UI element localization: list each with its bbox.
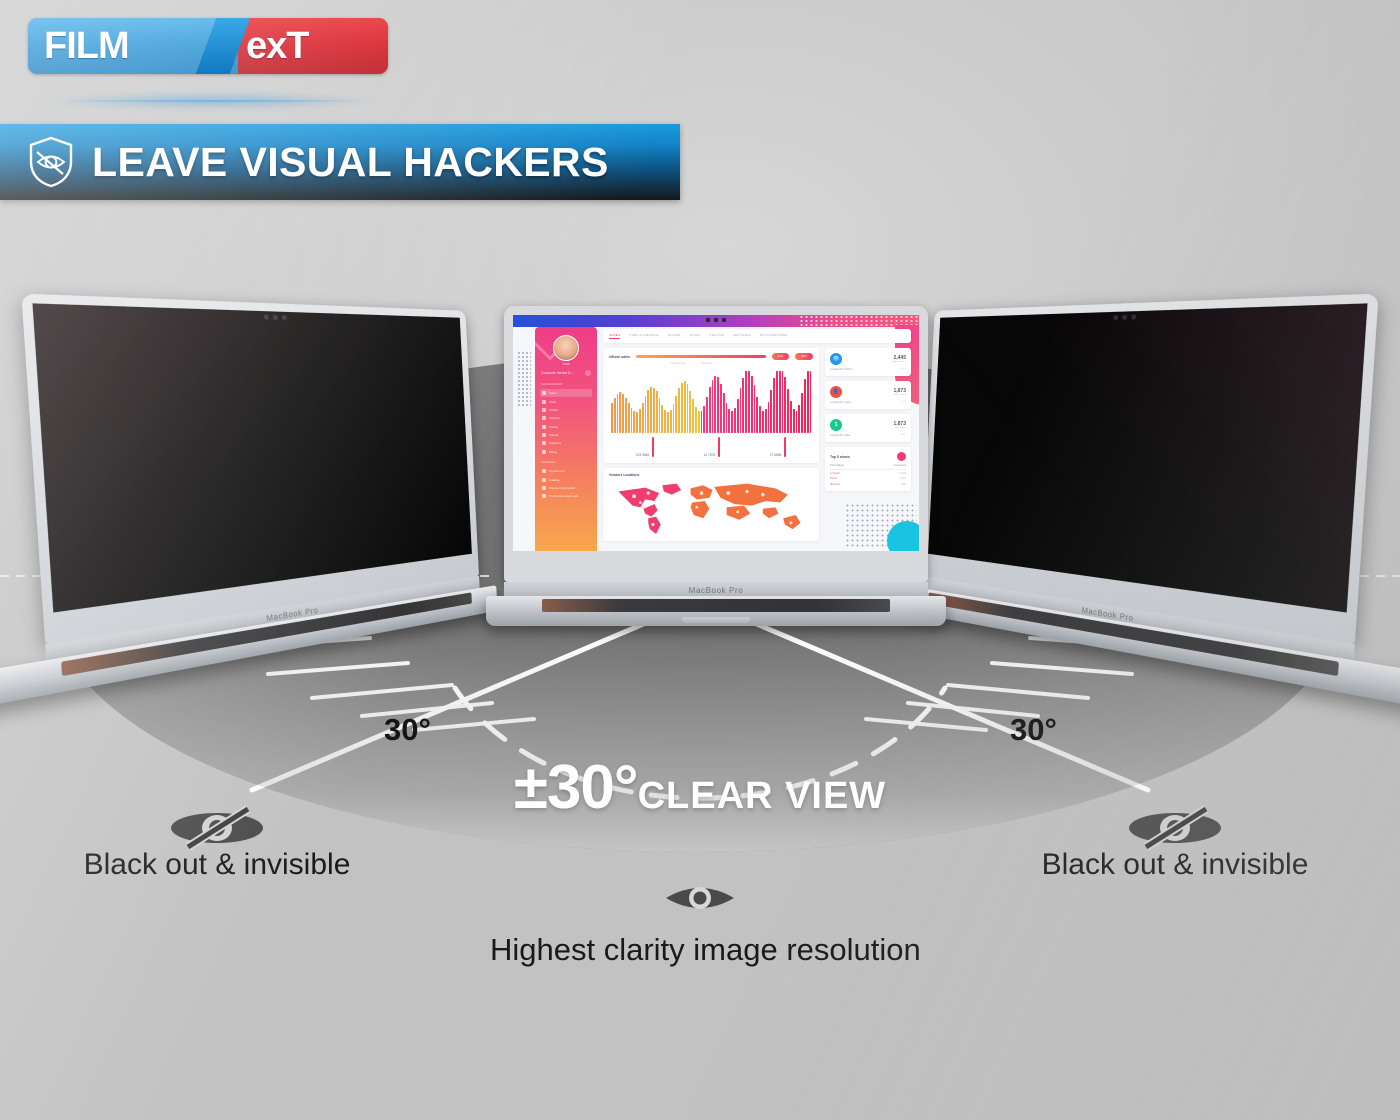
sparkline-bar bbox=[768, 402, 770, 433]
sparkline-bar bbox=[664, 410, 666, 433]
caption-center: Highest clarity image resolution bbox=[490, 878, 910, 968]
world-map bbox=[609, 480, 813, 536]
sidebar-item-payment-approvals[interactable]: Payment Approvals bbox=[540, 484, 592, 492]
sidebar-item-label: Clients bbox=[549, 433, 558, 437]
avatar-name: Smith bbox=[540, 363, 592, 366]
percent-icon bbox=[542, 494, 546, 498]
metric-revenue: 223.9848 bbox=[636, 437, 654, 457]
hero-clear-view: CLEAR VIEW bbox=[638, 775, 887, 817]
stat-delta: -0.5% bbox=[900, 434, 906, 437]
user-icon: 👤 bbox=[830, 386, 842, 398]
sparkline-bar bbox=[723, 393, 725, 433]
sparkline-bar bbox=[793, 409, 795, 433]
store-customers: 984 bbox=[902, 483, 906, 486]
sparkline-bar bbox=[670, 410, 672, 433]
stat-unit: New Clients bbox=[893, 394, 906, 396]
sparkline-bar bbox=[810, 371, 812, 433]
top-stores-title: Top 5 stores bbox=[830, 455, 850, 459]
tab-public-profile[interactable]: PUBLIC PROFILE bbox=[629, 333, 658, 339]
sparkline-bar bbox=[701, 411, 703, 433]
sparkline-bar bbox=[759, 406, 761, 433]
sidebar-item-store[interactable]: Store bbox=[540, 397, 592, 405]
account-switcher[interactable]: Consumer Service D... bbox=[541, 370, 591, 376]
sparkline-bar bbox=[661, 405, 663, 433]
sparkline-bar bbox=[742, 378, 744, 433]
tab-sales[interactable]: SALES bbox=[609, 333, 620, 339]
laptop-center-model: MacBook Pro bbox=[689, 586, 744, 595]
sparkline-bar bbox=[681, 383, 683, 433]
sparkline-bar bbox=[642, 403, 644, 433]
sparkline-bar bbox=[748, 371, 750, 433]
users-icon bbox=[542, 433, 546, 437]
stat-delta: +1.1% bbox=[900, 401, 906, 404]
sparkline-bar bbox=[675, 396, 677, 433]
caption-center-text: Highest clarity image resolution bbox=[490, 932, 910, 968]
sparkline-bar bbox=[656, 391, 658, 433]
store-name: Locatelli bbox=[830, 472, 840, 475]
sidebar-item-label: Pricing bbox=[549, 425, 558, 429]
caption-right: Black out & invisible bbox=[1000, 808, 1350, 882]
sparkline-bar bbox=[639, 409, 641, 433]
sparkline-bar bbox=[712, 380, 714, 434]
sidebar-item-label: Store bbox=[549, 400, 556, 404]
nav-section-label: MANAGEMENT bbox=[541, 382, 591, 386]
laptop-center-trackpad bbox=[682, 617, 750, 623]
sparkline-bar bbox=[745, 371, 747, 433]
dot-pattern-left bbox=[517, 351, 531, 407]
graph-icon bbox=[542, 441, 546, 445]
stat-label: Last Month's Visitors bbox=[830, 368, 852, 371]
sparkline-bar bbox=[678, 388, 680, 433]
sparkline-bar bbox=[796, 411, 798, 433]
sparkline-bar bbox=[737, 399, 739, 433]
caption-right-text: Black out & invisible bbox=[1000, 848, 1350, 882]
sparkline-bar bbox=[751, 376, 753, 433]
sparkline-bar bbox=[807, 371, 809, 433]
dashboard-tabs: SALES PUBLIC PROFILE HOURS STAFF PHOTOS … bbox=[603, 329, 911, 343]
logo-underline bbox=[62, 100, 362, 102]
sparkline-bar bbox=[673, 404, 675, 433]
stat-value: 1,873 bbox=[893, 389, 906, 394]
stat-card-visitors: 👁 2,445 Unique visitors Last Month's Vis… bbox=[825, 348, 911, 376]
month-filter-button[interactable]: AUG bbox=[772, 353, 790, 360]
sparkline-bar bbox=[798, 405, 800, 433]
sparkline-bar bbox=[754, 385, 756, 433]
sparkline-bar bbox=[653, 388, 655, 433]
sparkline-bar bbox=[765, 409, 767, 433]
metric-value: 223.9848 bbox=[636, 453, 649, 457]
caption-left: Black out & invisible bbox=[42, 808, 392, 882]
caption-left-text: Black out & invisible bbox=[42, 848, 392, 882]
laptop-center: Smith Consumer Service D... MANAGEMENT S… bbox=[486, 306, 946, 622]
column-customers: Customers bbox=[893, 464, 906, 467]
sparkline-bar bbox=[619, 392, 621, 433]
table-row: Mossard 984 bbox=[830, 480, 906, 485]
sparkline-bar bbox=[779, 371, 781, 433]
stat-unit: Unique visitors bbox=[892, 361, 906, 363]
sparkline-bar bbox=[689, 391, 691, 433]
sparkline-bar bbox=[617, 394, 619, 433]
top-stores-card: Top 5 stores Store Name Customers Locate… bbox=[825, 447, 911, 491]
eye-icon: 👁 bbox=[830, 353, 842, 365]
stat-unit: Total Orders bbox=[893, 427, 906, 429]
sparkline-bar bbox=[731, 411, 733, 433]
laptop-left-screen bbox=[32, 303, 471, 612]
shield-eye-slash-icon bbox=[28, 136, 74, 188]
sparkline-bar bbox=[709, 387, 711, 433]
sales-progress-bar bbox=[636, 355, 765, 357]
stat-label: Last Month's Leads bbox=[830, 401, 851, 404]
sparkline-bar bbox=[728, 409, 730, 433]
sparkline-bar bbox=[734, 408, 736, 433]
angle-label-right: 30° bbox=[1010, 712, 1057, 748]
sparkline-bar bbox=[650, 387, 652, 433]
logo-right-panel: exT bbox=[238, 18, 388, 74]
store-icon bbox=[542, 400, 546, 404]
stat-card-sales: $ 1,873 Total Orders Last Month's Sales bbox=[825, 414, 911, 442]
banner-title: LEAVE VISUAL HACKERS bbox=[92, 142, 609, 183]
sparkline-bar bbox=[614, 398, 616, 433]
sparkline-bar bbox=[726, 403, 728, 433]
sparkline-bar bbox=[790, 401, 792, 433]
store-name: Ronta bbox=[830, 477, 837, 480]
sparkline-bar bbox=[692, 399, 694, 433]
sparkline-bar bbox=[740, 388, 742, 433]
estore-sales-title: eStore sales bbox=[609, 355, 630, 359]
tag-icon bbox=[542, 425, 546, 429]
sparkline-bar bbox=[628, 403, 630, 433]
store-customers: 1,341 bbox=[900, 472, 907, 475]
metric-bar bbox=[784, 437, 786, 457]
store-customers: 1,107 bbox=[900, 477, 907, 480]
metric-bar bbox=[718, 437, 720, 457]
headline-banner: LEAVE VISUAL HACKERS bbox=[0, 124, 680, 200]
ghost-content bbox=[928, 303, 1367, 612]
sidebar-item-label: Billing bbox=[549, 450, 557, 454]
hero-angle: ±30° bbox=[514, 753, 638, 822]
chart-icon bbox=[542, 391, 546, 395]
legend-cost: Total cost bbox=[701, 362, 711, 365]
sidebar-item-clients[interactable]: Clients bbox=[540, 431, 592, 439]
sidebar-item-analytics[interactable]: Analytics bbox=[540, 439, 592, 447]
sparkline-bar bbox=[773, 378, 775, 433]
cart-icon bbox=[542, 408, 546, 412]
sparkline-bar bbox=[801, 393, 803, 433]
eye-slash-icon bbox=[42, 808, 392, 848]
dashboard-sidebar: Smith Consumer Service D... MANAGEMENT S… bbox=[535, 327, 597, 551]
tab-hours[interactable]: HOURS bbox=[668, 333, 681, 339]
sidebar-item-billing[interactable]: Billing bbox=[540, 448, 592, 456]
angle-label-left: 30° bbox=[384, 712, 431, 748]
metric-value: 27.6858 bbox=[770, 453, 782, 457]
tab-photos[interactable]: PHOTOS bbox=[709, 333, 724, 339]
sidebar-item-label: Sales bbox=[549, 391, 557, 395]
card-icon bbox=[542, 450, 546, 454]
brand-logo: FILM exT bbox=[28, 18, 388, 74]
sparkline-bar bbox=[784, 377, 786, 433]
sales-metrics: 223.9848 12.7878 27.6858 bbox=[603, 433, 819, 463]
metric-cost: 12.7878 bbox=[704, 437, 720, 457]
sparkline-bar bbox=[717, 377, 719, 433]
promo-stage: MacBook Pro MacBook Pro bbox=[0, 0, 1400, 1120]
sparkline-bar bbox=[720, 384, 722, 433]
sparkline-bar bbox=[667, 412, 669, 433]
sidebar-item-orders[interactable]: Orders bbox=[540, 406, 592, 414]
stat-delta: +2.4% bbox=[900, 368, 906, 371]
sidebar-item-label: Vendors bbox=[549, 416, 560, 420]
sparkline-bar bbox=[625, 398, 627, 433]
metric-value: 12.7878 bbox=[704, 453, 716, 457]
laptop-center-lid: Smith Consumer Service D... MANAGEMENT S… bbox=[504, 306, 928, 582]
store-name: Mossard bbox=[830, 483, 840, 486]
sparkline-bar bbox=[647, 390, 649, 433]
sparkline-bar bbox=[770, 390, 772, 433]
sparkline-bar bbox=[622, 394, 624, 433]
sparkline-bar bbox=[776, 371, 778, 433]
sidebar-item-label: My Account bbox=[549, 469, 565, 473]
book-icon bbox=[542, 478, 546, 482]
sidebar-item-label: Analytics bbox=[549, 441, 561, 445]
truck-icon bbox=[542, 416, 546, 420]
sparkline-bar bbox=[714, 376, 716, 433]
tab-notifications[interactable]: NOTIFICATIONS bbox=[760, 333, 788, 339]
sparkline-bar bbox=[706, 397, 708, 433]
column-store-name: Store Name bbox=[830, 464, 844, 467]
metric-profit: 27.6858 bbox=[770, 437, 786, 457]
dollar-icon: $ bbox=[830, 419, 842, 431]
sidebar-item-label: Catalog bbox=[549, 478, 559, 482]
sparkline-bar bbox=[804, 379, 806, 433]
sparkline-bar bbox=[787, 389, 789, 433]
sparkline-bar bbox=[687, 384, 689, 433]
sidebar-item-catalog[interactable]: Catalog bbox=[540, 475, 592, 483]
user-icon bbox=[542, 469, 546, 473]
tab-staff[interactable]: STAFF bbox=[689, 333, 700, 339]
sparkline-bar bbox=[631, 408, 633, 433]
tab-settings[interactable]: SETTINGS bbox=[733, 333, 751, 339]
avatar[interactable] bbox=[553, 335, 579, 361]
laptop-center-screen[interactable]: Smith Consumer Service D... MANAGEMENT S… bbox=[513, 315, 919, 551]
sidebar-item-pricing[interactable]: Pricing bbox=[540, 423, 592, 431]
sidebar-item-my-account[interactable]: My Account bbox=[540, 467, 592, 475]
chevron-icon bbox=[585, 370, 591, 376]
eye-slash-icon bbox=[1000, 808, 1350, 848]
sales-sparkline-chart bbox=[603, 365, 819, 433]
sidebar-item-vendors[interactable]: Vendors bbox=[540, 414, 592, 422]
ghost-content bbox=[32, 303, 471, 612]
sparkline-bar bbox=[782, 371, 784, 433]
sparkline-bar bbox=[756, 397, 758, 433]
logo-film-text: FILM bbox=[44, 27, 129, 65]
estore-sales-card: eStore sales AUG 2017 Total revenue Tota… bbox=[603, 348, 819, 463]
sparkline-bar bbox=[695, 407, 697, 433]
dashboard-app: Smith Consumer Service D... MANAGEMENT S… bbox=[513, 315, 919, 551]
sparkline-bar bbox=[659, 398, 661, 433]
check-icon bbox=[542, 486, 546, 490]
sparkline-bar bbox=[633, 411, 635, 433]
sidebar-item-label: Promotions Approvals bbox=[549, 494, 578, 498]
account-title: Consumer Service D... bbox=[541, 371, 583, 375]
sparkline-bar bbox=[611, 403, 613, 433]
laptop-center-keyboard bbox=[542, 599, 890, 612]
vendors-locations-card: Vendors Locations bbox=[603, 468, 819, 541]
sparkline-bar bbox=[762, 411, 764, 433]
logo-ext-text: exT bbox=[246, 27, 308, 65]
sidebar-item-label: Payment Approvals bbox=[549, 486, 575, 490]
metric-bar bbox=[652, 437, 654, 457]
stat-card-leads: 👤 1,873 New Clients Last Month's Leads bbox=[825, 381, 911, 409]
more-options-icon[interactable] bbox=[897, 452, 906, 461]
sidebar-item-sales[interactable]: Sales bbox=[540, 389, 592, 397]
stat-value: 2,445 bbox=[892, 356, 906, 361]
dashboard-main: SALES PUBLIC PROFILE HOURS STAFF PHOTOS … bbox=[597, 315, 919, 551]
sparkline-bar bbox=[636, 412, 638, 433]
year-filter-button[interactable]: 2017 bbox=[795, 353, 813, 360]
sidebar-item-label: Orders bbox=[549, 408, 558, 412]
sparkline-bar bbox=[684, 381, 686, 433]
stat-value: 1,873 bbox=[893, 422, 906, 427]
stat-cards-column: 👁 2,445 Unique visitors Last Month's Vis… bbox=[825, 348, 911, 541]
legend-revenue: Total revenue bbox=[671, 362, 685, 365]
laptop-right-screen bbox=[928, 303, 1367, 612]
eye-open-icon bbox=[490, 878, 910, 918]
sparkline-bar bbox=[698, 411, 700, 433]
nav-section-label: GENERAL bbox=[541, 460, 591, 464]
sparkline-bar bbox=[645, 396, 647, 433]
stat-label: Last Month's Sales bbox=[830, 434, 850, 437]
sparkline-bar bbox=[703, 406, 705, 433]
vendors-title: Vendors Locations bbox=[609, 473, 813, 477]
sidebar-item-promotions-approvals[interactable]: Promotions Approvals bbox=[540, 492, 592, 500]
